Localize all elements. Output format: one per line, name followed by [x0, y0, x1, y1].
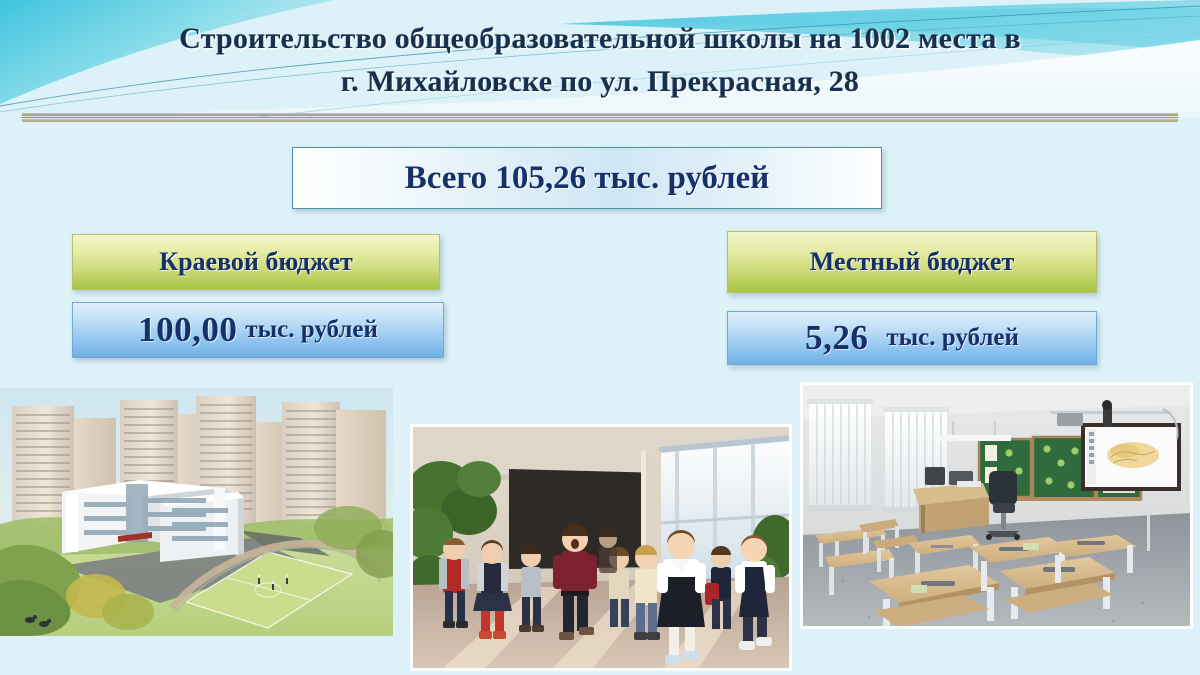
- regional-budget-amount: 100,00: [138, 310, 237, 350]
- classroom-photo: [803, 385, 1190, 626]
- total-amount-label: Всего 105,26 тыс. рублей: [405, 160, 770, 197]
- regional-budget-unit: тыс. рублей: [245, 316, 378, 344]
- page-title-line-1: Строительство общеобразовательной школы …: [60, 18, 1140, 61]
- local-budget-title-box: Местный бюджет: [727, 231, 1097, 293]
- presentation-slide: Строительство общеобразовательной школы …: [0, 0, 1200, 675]
- local-budget-unit: тыс. рублей: [886, 324, 1019, 352]
- local-budget-amount-box: 5,26 тыс. рублей: [727, 311, 1097, 365]
- page-title-line-2: г. Михайловске по ул. Прекрасная, 28: [60, 61, 1140, 104]
- total-amount-box: Всего 105,26 тыс. рублей: [292, 147, 882, 209]
- local-budget-title: Местный бюджет: [810, 247, 1014, 277]
- regional-budget-amount-box: 100,00 тыс. рублей: [72, 302, 444, 358]
- school-render-photo: [0, 388, 393, 636]
- header-divider: [22, 113, 1178, 125]
- regional-budget-title: Краевой бюджет: [159, 247, 353, 277]
- local-budget-amount: 5,26: [805, 318, 868, 358]
- children-corridor-photo: [413, 427, 789, 668]
- page-title: Строительство общеобразовательной школы …: [60, 18, 1140, 103]
- regional-budget-title-box: Краевой бюджет: [72, 234, 440, 290]
